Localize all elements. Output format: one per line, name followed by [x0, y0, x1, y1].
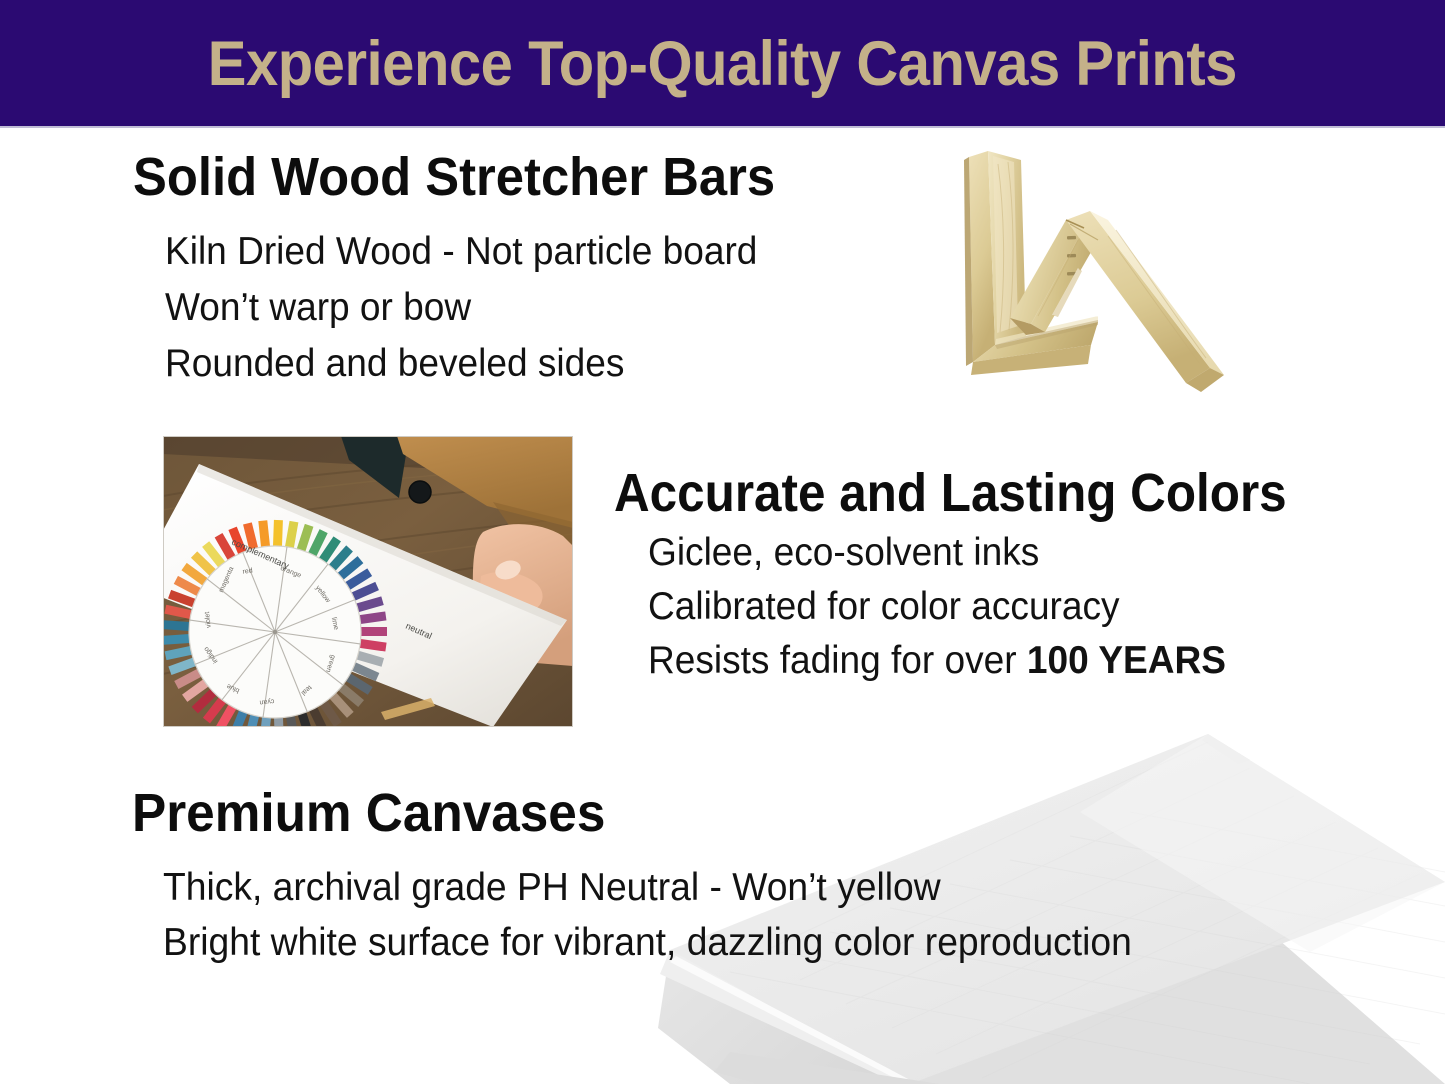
bullet-list-stretcher-bars: Kiln Dried Wood - Not particle board Won… — [165, 232, 789, 400]
emphasis-100-years: 100 YEARS — [1027, 639, 1226, 682]
list-item: Resists fading for over 100 YEARS — [648, 641, 1226, 680]
color-wheel-illustration: red orange yellow lime green teal cyan b… — [163, 436, 573, 727]
svg-text:red: red — [242, 567, 253, 575]
bullet-list-premium-canvases: Thick, archival grade PH Neutral - Won’t… — [163, 868, 1178, 978]
list-item: Rounded and beveled sides — [165, 344, 757, 383]
wood-stretcher-bars-illustration — [948, 140, 1226, 400]
section-heading-accurate-colors: Accurate and Lasting Colors — [614, 466, 1287, 521]
header-divider — [0, 126, 1445, 128]
poster-canvas: Experience Top-Quality Canvas Prints Sol… — [0, 0, 1445, 1084]
header-banner: Experience Top-Quality Canvas Prints — [0, 0, 1445, 126]
color-wheel-photo: red orange yellow lime green teal cyan b… — [163, 436, 573, 727]
section-heading-premium-canvases: Premium Canvases — [132, 786, 605, 841]
list-item-text: Resists fading for over — [648, 639, 1027, 682]
page-title: Experience Top-Quality Canvas Prints — [208, 33, 1237, 96]
list-item: Won’t warp or bow — [165, 288, 757, 327]
section-heading-stretcher-bars: Solid Wood Stretcher Bars — [133, 150, 775, 205]
list-item: Thick, archival grade PH Neutral - Won’t… — [163, 868, 1132, 907]
list-item: Bright white surface for vibrant, dazzli… — [163, 923, 1132, 962]
wood-stretcher-bars-photo — [948, 140, 1226, 400]
list-item: Giclee, eco-solvent inks — [648, 533, 1226, 572]
list-item: Kiln Dried Wood - Not particle board — [165, 232, 757, 271]
bullet-list-accurate-colors: Giclee, eco-solvent inks Calibrated for … — [648, 533, 1256, 695]
list-item: Calibrated for color accuracy — [648, 587, 1226, 626]
